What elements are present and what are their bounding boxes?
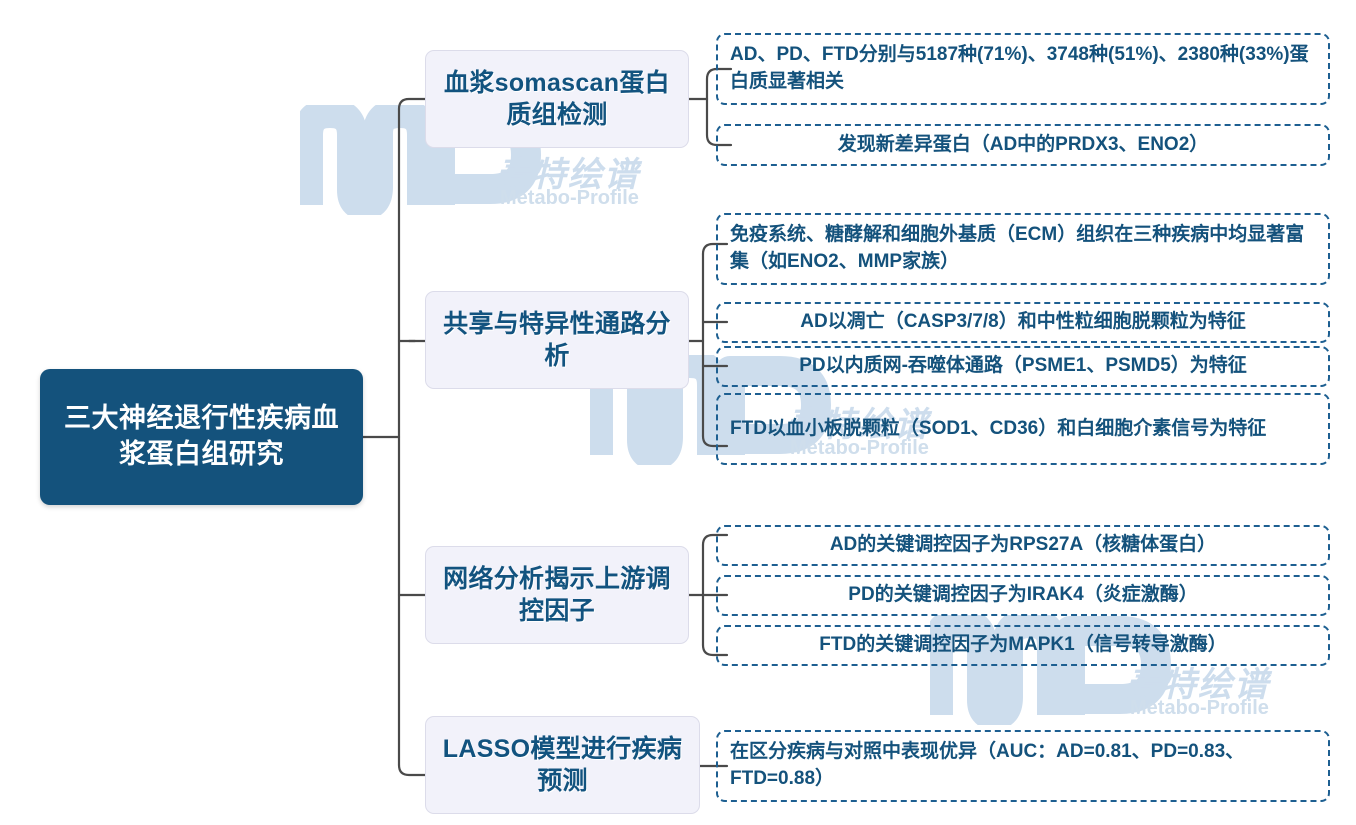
leaf-node-text: AD、PD、FTD分别与5187种(71%)、3748种(51%)、2380种(… <box>730 42 1316 96</box>
leaf-node-b2-l4[interactable]: FTD以血小板脱颗粒（SOD1、CD36）和白细胞介素信号为特征 <box>716 393 1330 465</box>
leaf-node-text: AD以凋亡（CASP3/7/8）和中性粒细胞脱颗粒为特征 <box>730 309 1316 336</box>
branch-node-plasma-somascan[interactable]: 血浆somascan蛋白质组检测 <box>425 50 689 148</box>
branch-node-network-analysis[interactable]: 网络分析揭示上游调控因子 <box>425 546 689 644</box>
branch-node-label: 共享与特异性通路分析 <box>436 308 678 373</box>
leaf-node-b1-l1[interactable]: AD、PD、FTD分别与5187种(71%)、3748种(51%)、2380种(… <box>716 33 1330 105</box>
connector-branch-4 <box>399 765 425 775</box>
leaf-node-text: FTD以血小板脱颗粒（SOD1、CD36）和白细胞介素信号为特征 <box>730 416 1316 443</box>
root-node-label: 三大神经退行性疾病血浆蛋白组研究 <box>52 401 351 472</box>
leaf-node-text: AD的关键调控因子为RPS27A（核糖体蛋白） <box>730 532 1316 559</box>
leaf-node-b3-l3[interactable]: FTD的关键调控因子为MAPK1（信号转导激酶） <box>716 625 1330 666</box>
connector-branch-1 <box>399 99 425 109</box>
leaf-node-b2-l3[interactable]: PD以内质网-吞噬体通路（PSME1、PSMD5）为特征 <box>716 346 1330 387</box>
leaf-node-b2-l1[interactable]: 免疫系统、糖酵解和细胞外基质（ECM）组织在三种疾病中均显著富集（如ENO2、M… <box>716 213 1330 285</box>
mindmap-canvas: 麦特绘谱 Metabo-Profile 麦特绘谱 Metabo-Profile … <box>0 0 1356 825</box>
branch-node-label: LASSO模型进行疾病预测 <box>436 733 689 798</box>
watermark-chinese-text: 麦特绘谱 <box>496 147 640 196</box>
leaf-node-text: 免疫系统、糖酵解和细胞外基质（ECM）组织在三种疾病中均显著富集（如ENO2、M… <box>730 222 1316 276</box>
branch-node-lasso-prediction[interactable]: LASSO模型进行疾病预测 <box>425 716 700 814</box>
leaf-node-text: FTD的关键调控因子为MAPK1（信号转导激酶） <box>730 632 1316 659</box>
branch-node-shared-specific-pathways[interactable]: 共享与特异性通路分析 <box>425 291 689 389</box>
branch-node-label: 血浆somascan蛋白质组检测 <box>436 67 678 132</box>
leaf-node-text: PD以内质网-吞噬体通路（PSME1、PSMD5）为特征 <box>730 353 1316 380</box>
root-node[interactable]: 三大神经退行性疾病血浆蛋白组研究 <box>40 369 363 505</box>
leaf-node-b4-l1[interactable]: 在区分疾病与对照中表现优异（AUC：AD=0.81、PD=0.83、FTD=0.… <box>716 730 1330 802</box>
leaf-node-b3-l2[interactable]: PD的关键调控因子为IRAK4（炎症激酶） <box>716 575 1330 616</box>
leaf-node-b2-l2[interactable]: AD以凋亡（CASP3/7/8）和中性粒细胞脱颗粒为特征 <box>716 302 1330 343</box>
leaf-node-text: 在区分疾病与对照中表现优异（AUC：AD=0.81、PD=0.83、FTD=0.… <box>730 739 1316 793</box>
leaf-node-text: PD的关键调控因子为IRAK4（炎症激酶） <box>730 582 1316 609</box>
watermark-english-text: Metabo-Profile <box>500 187 639 210</box>
branch-node-label: 网络分析揭示上游调控因子 <box>436 563 678 628</box>
leaf-node-b3-l1[interactable]: AD的关键调控因子为RPS27A（核糖体蛋白） <box>716 525 1330 566</box>
leaf-node-b1-l2[interactable]: 发现新差异蛋白（AD中的PRDX3、ENO2） <box>716 124 1330 166</box>
connector-branch-2-elbow <box>399 341 409 351</box>
leaf-node-text: 发现新差异蛋白（AD中的PRDX3、ENO2） <box>730 132 1316 159</box>
watermark-english-text: Metabo-Profile <box>1130 697 1269 720</box>
